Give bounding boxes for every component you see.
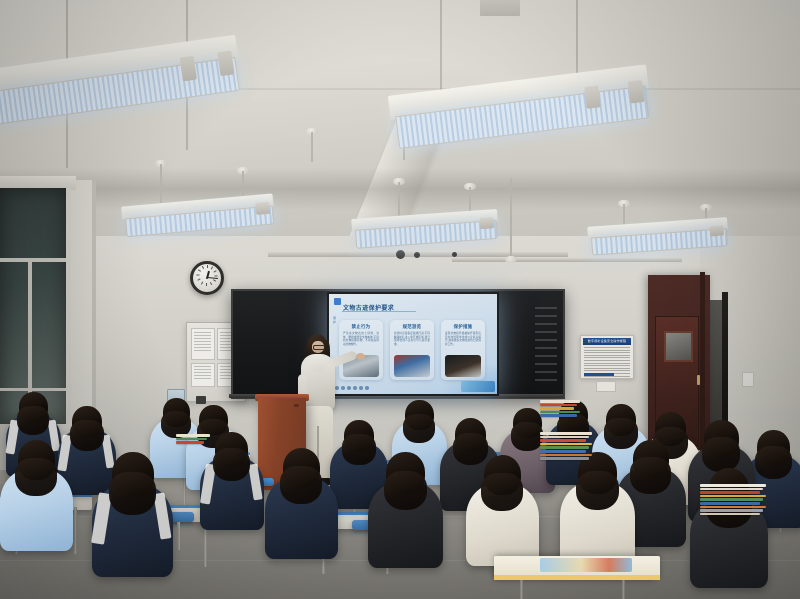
student-hair — [70, 420, 104, 450]
classroom-photo: 文物古迹保护要求 保护 禁止行为 严禁在文物古迹上刻划、涂抹、攀爬或倚靠文物本体… — [0, 0, 800, 599]
ceiling-vent — [480, 0, 520, 16]
safety-information-poster: 数字视听设备安全操作规程 — [580, 335, 634, 379]
textbook — [540, 411, 580, 414]
textbook-stack-left — [176, 434, 210, 445]
interactive-whiteboard-display[interactable]: 文物古迹保护要求 保护 禁止行为 严禁在文物古迹上刻划、涂抹、攀爬或倚靠文物本体… — [327, 292, 499, 396]
textbook — [540, 407, 574, 410]
textbook — [540, 432, 592, 435]
wall-outlet-plate — [742, 372, 754, 387]
textbook — [700, 513, 760, 516]
textbook — [700, 488, 763, 491]
textbook — [540, 404, 577, 407]
textbook — [540, 446, 589, 449]
slide-card-2: 规范游览 参观时应按指定路线行进,不得翻越护栏进入非开放区域,遵守现场管理人员的… — [390, 320, 434, 380]
student-row2-b — [200, 432, 264, 540]
slide-card-3-body: 发现文物损坏或被破坏情形应及时向管理单位或公安机关报告,协助做好文物古迹的日常保… — [441, 332, 485, 346]
poster-header-text: 数字视听设备安全操作规程 — [583, 338, 631, 345]
textbook — [540, 400, 580, 403]
textbook — [176, 441, 204, 444]
slide-card-2-body: 参观时应按指定路线行进,不得翻越护栏进入非开放区域,遵守现场管理人员的引导与提示… — [390, 332, 434, 346]
chair-leg — [177, 522, 180, 550]
menu-icon[interactable] — [365, 386, 369, 390]
textbook — [176, 438, 207, 441]
teacher-hand — [356, 353, 365, 360]
door-window-panel — [664, 331, 693, 362]
textbook — [700, 484, 766, 487]
slide-card-3-heading: 保护措施 — [441, 320, 485, 332]
textbook — [700, 491, 760, 494]
textbook — [700, 509, 763, 512]
student-hair — [213, 448, 250, 481]
textbook — [700, 506, 766, 509]
textbook — [700, 495, 766, 498]
eraser-icon[interactable] — [347, 386, 351, 390]
student-hair — [15, 458, 57, 496]
textbook-stack-mid — [540, 400, 580, 418]
wall-clock — [190, 261, 224, 295]
textbook-stack-right — [540, 432, 592, 461]
slide-side-note: 保护 — [333, 316, 338, 324]
side-window — [0, 188, 71, 424]
open-textbook-foreground — [494, 556, 660, 580]
textbook — [700, 502, 760, 505]
textbook — [540, 450, 586, 453]
student-hair — [702, 437, 741, 472]
student-hair — [109, 472, 156, 515]
student-hair — [481, 473, 523, 511]
textbook — [540, 457, 589, 460]
slide-card-1: 禁止行为 严禁在文物古迹上刻划、涂抹、攀爬或倚靠文物本体,不得向文物投掷杂物、不… — [339, 320, 383, 380]
textbook-page-edge — [494, 575, 660, 580]
slide-card-1-heading: 禁止行为 — [339, 320, 383, 332]
student-hair — [403, 414, 435, 443]
slide-logo-icon — [334, 298, 341, 305]
student-front-left — [0, 440, 73, 563]
shapes-icon[interactable] — [353, 386, 357, 390]
student-front-b — [265, 448, 338, 571]
more-icon[interactable] — [359, 386, 363, 390]
slide-card-1-body: 严禁在文物古迹上刻划、涂抹、攀爬或倚靠文物本体,不得向文物投掷杂物、不得擅自移动… — [339, 332, 383, 346]
textbook — [540, 443, 592, 446]
textbook-cover-art — [540, 558, 632, 572]
textbook — [540, 436, 589, 439]
textbook — [700, 498, 763, 501]
student-hair — [511, 422, 543, 451]
student-hair — [630, 457, 670, 493]
poster-sub-label — [596, 381, 616, 392]
student-front-c — [368, 452, 443, 579]
textbook — [176, 434, 210, 437]
student-hair — [280, 466, 322, 504]
textbook — [540, 454, 592, 457]
presentation-watermark — [461, 381, 495, 392]
desk-leg — [74, 507, 77, 554]
student-hair — [576, 471, 620, 511]
projector-rail-2 — [452, 258, 682, 262]
student-hair — [384, 471, 428, 511]
slide-card-2-image — [394, 355, 430, 377]
eyeglasses-icon — [313, 345, 325, 350]
textbook — [540, 414, 577, 417]
student-hair — [17, 406, 49, 435]
textbook-stack-front — [700, 484, 766, 516]
textbook — [540, 439, 586, 442]
slide-card-2-heading: 规范游览 — [390, 320, 434, 332]
student-front-a — [92, 452, 173, 589]
